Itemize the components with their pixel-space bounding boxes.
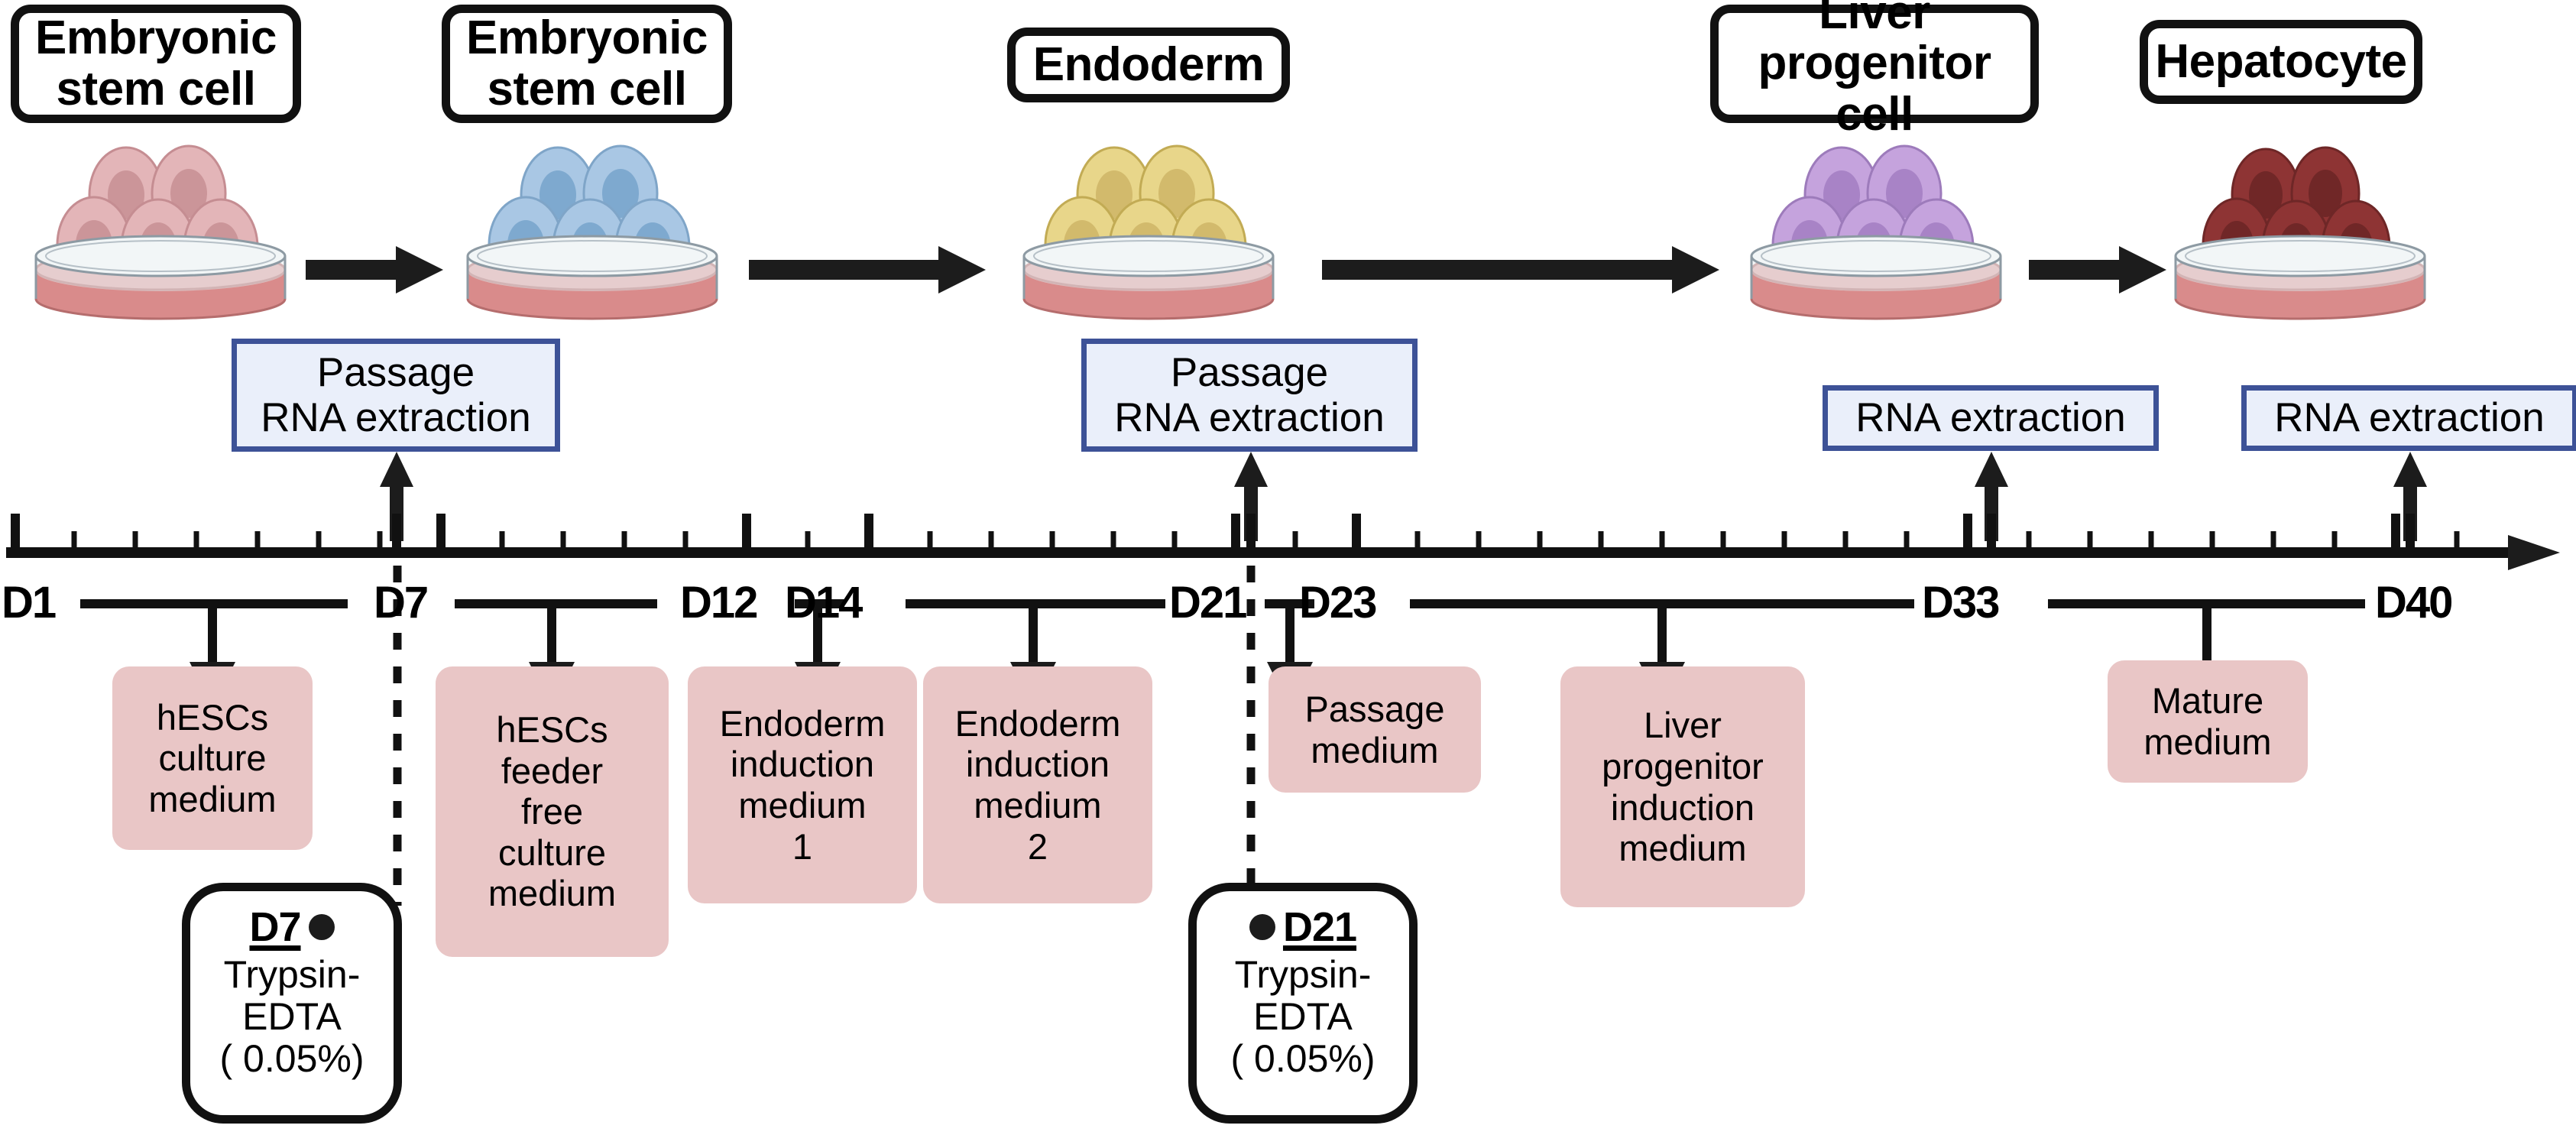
connector-dot-icon: [309, 914, 335, 940]
rna-box-d40[interactable]: RNA extraction: [2241, 385, 2576, 451]
callout-d7-day: D7: [249, 903, 300, 951]
medium-box-label: Passage medium: [1305, 689, 1445, 770]
rna-arrow-d7: [380, 452, 413, 541]
stage-title-esc1: Embryonic stem cell: [11, 5, 301, 123]
medium-box-endoderm-2[interactable]: Endoderm induction medium 2: [923, 666, 1152, 903]
stage-title-label: Endoderm: [1033, 40, 1265, 90]
dish-vessel-hepatocyte: [2176, 236, 2425, 319]
callout-d21-day: D21: [1283, 903, 1356, 951]
callout-d7-body: Trypsin- EDTA ( 0.05%): [198, 954, 386, 1080]
rna-box-label: RNA extraction: [1855, 395, 2125, 440]
connector-dot-icon: [1249, 914, 1275, 940]
day-label-d1: D1: [2, 581, 55, 625]
rna-arrow-d21: [1234, 452, 1268, 541]
callout-d7-header: D7: [198, 903, 386, 951]
medium-box-hesc-feeder-free[interactable]: hESCs feeder free culture medium: [436, 666, 669, 957]
medium-box-liver-progenitor-medium[interactable]: Liver progenitor induction medium: [1560, 666, 1805, 907]
day-label-d14: D14: [785, 581, 861, 625]
dish-vessel-liver-progenitor: [1751, 236, 2001, 319]
day-label-d33: D33: [1922, 581, 1998, 625]
stage-title-hepatocyte: Hepatocyte: [2140, 20, 2422, 104]
stage-title-label: Embryonic stem cell: [35, 13, 277, 115]
stage-title-label: Liver progenitor cell: [1719, 0, 2030, 140]
medium-box-mature-medium[interactable]: Mature medium: [2108, 660, 2308, 783]
flow-arrow-3: [1322, 246, 1719, 293]
flow-arrow-1: [306, 246, 443, 293]
medium-box-label: hESCs culture medium: [148, 697, 276, 820]
medium-box-label: Endoderm induction medium 1: [720, 703, 886, 867]
callout-d21[interactable]: D21 Trypsin- EDTA ( 0.05%): [1188, 883, 1418, 1124]
petri-dish-liver-progenitor: [1735, 134, 2017, 317]
stage-title-esc2: Embryonic stem cell: [442, 5, 732, 123]
medium-box-label: Liver progenitor induction medium: [1602, 705, 1764, 868]
petri-dish-esc1: [19, 134, 302, 317]
petri-dish-esc2: [451, 134, 734, 317]
petri-dish-endoderm: [1007, 134, 1290, 317]
petri-dish-hepatocyte: [2159, 134, 2442, 317]
day-label-d40: D40: [2375, 581, 2451, 625]
flow-arrow-4: [2029, 246, 2166, 293]
rna-box-d33[interactable]: RNA extraction: [1823, 385, 2159, 451]
callout-d21-body: Trypsin- EDTA ( 0.05%): [1204, 954, 1401, 1080]
day-label-d23: D23: [1299, 581, 1375, 625]
medium-box-label: Endoderm induction medium 2: [955, 703, 1121, 867]
medium-box-passage-medium[interactable]: Passage medium: [1269, 666, 1481, 793]
dish-vessel-esc2: [468, 236, 717, 319]
dish-vessel-esc1: [36, 236, 285, 319]
stage-title-label: Hepatocyte: [2155, 37, 2406, 87]
stage-title-liver-progenitor: Liver progenitor cell: [1710, 5, 2039, 123]
medium-box-label: hESCs feeder free culture medium: [488, 709, 616, 914]
callout-d7[interactable]: D7 Trypsin- EDTA ( 0.05%): [182, 883, 402, 1124]
rna-box-d7[interactable]: Passage RNA extraction: [232, 339, 560, 452]
dish-vessel-endoderm: [1024, 236, 1273, 319]
callout-d21-header: D21: [1204, 903, 1401, 951]
rna-box-label: Passage RNA extraction: [1114, 350, 1384, 441]
medium-box-endoderm-1[interactable]: Endoderm induction medium 1: [688, 666, 917, 903]
stage-title-endoderm: Endoderm: [1007, 28, 1290, 102]
day-label-d7: D7: [374, 581, 427, 625]
rna-arrow-d40: [2393, 452, 2427, 541]
rna-box-label: RNA extraction: [2274, 395, 2544, 440]
medium-box-hesc-culture[interactable]: hESCs culture medium: [112, 666, 313, 850]
day-label-d12: D12: [680, 581, 757, 625]
rna-box-d21[interactable]: Passage RNA extraction: [1081, 339, 1418, 452]
rna-box-label: Passage RNA extraction: [261, 350, 530, 441]
day-label-d21: D21: [1169, 581, 1246, 625]
flow-arrow-2: [749, 246, 986, 293]
rna-arrow-d33: [1975, 452, 2008, 541]
medium-box-label: Mature medium: [2143, 680, 2271, 762]
stage-title-label: Embryonic stem cell: [466, 13, 708, 115]
